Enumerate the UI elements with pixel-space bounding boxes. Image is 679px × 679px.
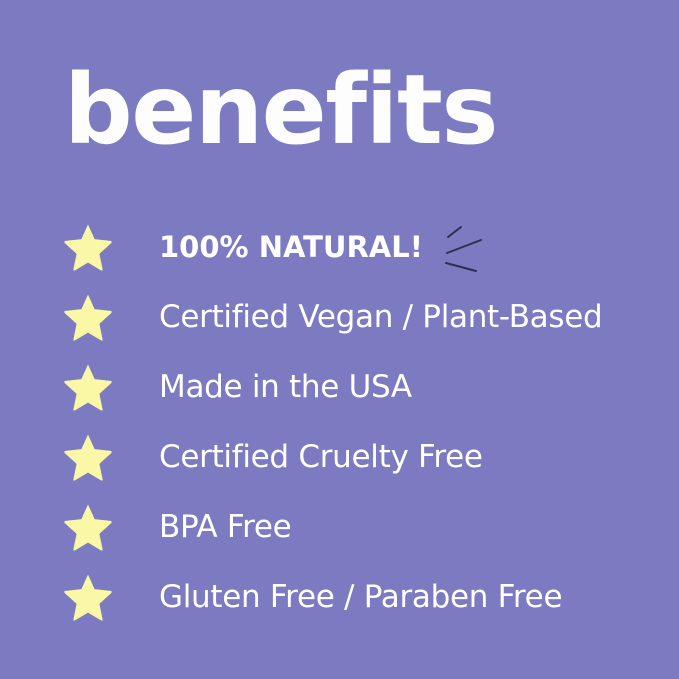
benefits-list: 100% NATURAL! Certified Vegan / Plant-Ba… xyxy=(0,212,679,632)
star-icon xyxy=(62,291,114,343)
star-icon xyxy=(62,221,114,273)
list-item: Made in the USA xyxy=(0,352,679,422)
list-item-label: BPA Free xyxy=(159,509,291,545)
list-item: 100% NATURAL! xyxy=(0,212,679,282)
list-item-label: Gluten Free / Paraben Free xyxy=(159,579,562,615)
list-item: Gluten Free / Paraben Free xyxy=(0,562,679,632)
star-icon xyxy=(62,431,114,483)
list-item: Certified Cruelty Free xyxy=(0,422,679,492)
page-title: benefits xyxy=(64,58,497,162)
list-item-label: Made in the USA xyxy=(159,369,412,405)
list-item: BPA Free xyxy=(0,492,679,562)
list-item-label: Certified Cruelty Free xyxy=(159,439,483,475)
star-icon xyxy=(62,571,114,623)
benefits-card: benefits 100% NATURAL! Certified Vegan /… xyxy=(0,0,679,679)
list-item-label: 100% NATURAL! xyxy=(159,229,423,265)
star-icon xyxy=(62,361,114,413)
list-item: Certified Vegan / Plant-Based xyxy=(0,282,679,352)
list-item-label: Certified Vegan / Plant-Based xyxy=(159,299,602,335)
star-icon xyxy=(62,501,114,553)
